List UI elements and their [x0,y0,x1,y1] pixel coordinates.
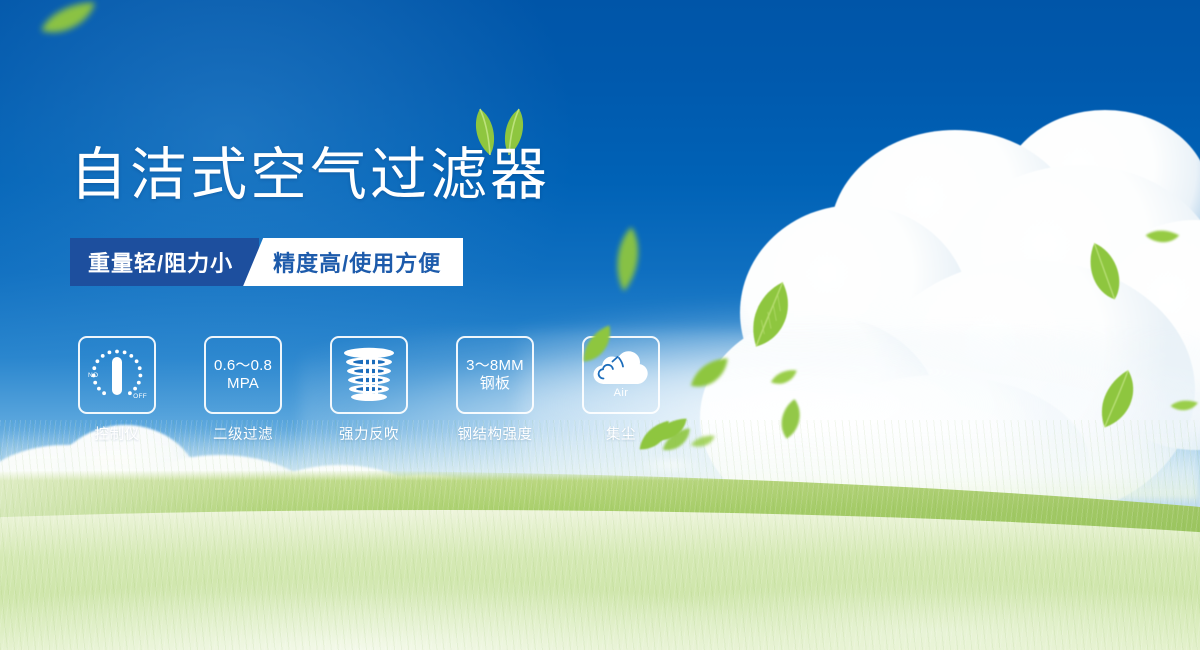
subtitle-right: 精度高/使用方便 [243,238,463,286]
dial-no-label: NO [88,372,98,379]
feature-item-pressure[interactable]: 0.6～0.8 MPA 二级过滤 [204,336,282,444]
subtitle-bar: 重量轻/阻力小 精度高/使用方便 [70,238,463,286]
grass-field-icon [0,420,1200,650]
page-title: 自洁式空气过滤器 [70,147,550,204]
feature-label: 二级过滤 [213,423,273,444]
feature-item-backblow[interactable]: 强力反吹 [330,336,408,444]
subtitle-left: 重量轻/阻力小 [70,238,259,286]
feature-item-steel[interactable]: 3～8MM 钢板 钢结构强度 [456,336,534,444]
dial-gauge-icon: NO OFF [78,336,156,414]
leaf-icon [1169,397,1199,416]
feature-label: 钢结构强度 [458,423,533,444]
feature-label: 强力反吹 [339,423,399,444]
feature-label: 集尘 [606,423,636,444]
air-label: Air [614,387,629,400]
pressure-text-icon: 0.6～0.8 MPA [204,336,282,414]
feature-list: NO OFF 控制仪 0.6～0.8 MPA 二级过滤 [78,336,660,444]
feature-label: 控制仪 [95,423,140,444]
steel-line2: 钢板 [480,375,510,393]
product-banner: 自洁式空气过滤器 重量轻/阻力小 精度高/使用方便 [0,0,1200,650]
pressure-line1: 0.6～0.8 [214,357,272,375]
leaf-icon [769,367,799,390]
steel-line1: 3～8MM [466,357,524,375]
pressure-line2: MPA [227,375,259,393]
cloud-air-icon: Air [582,336,660,414]
filter-coil-icon [330,336,408,414]
steel-plate-text-icon: 3～8MM 钢板 [456,336,534,414]
dial-off-label: OFF [133,393,147,400]
feature-item-controller[interactable]: NO OFF 控制仪 [78,336,156,444]
